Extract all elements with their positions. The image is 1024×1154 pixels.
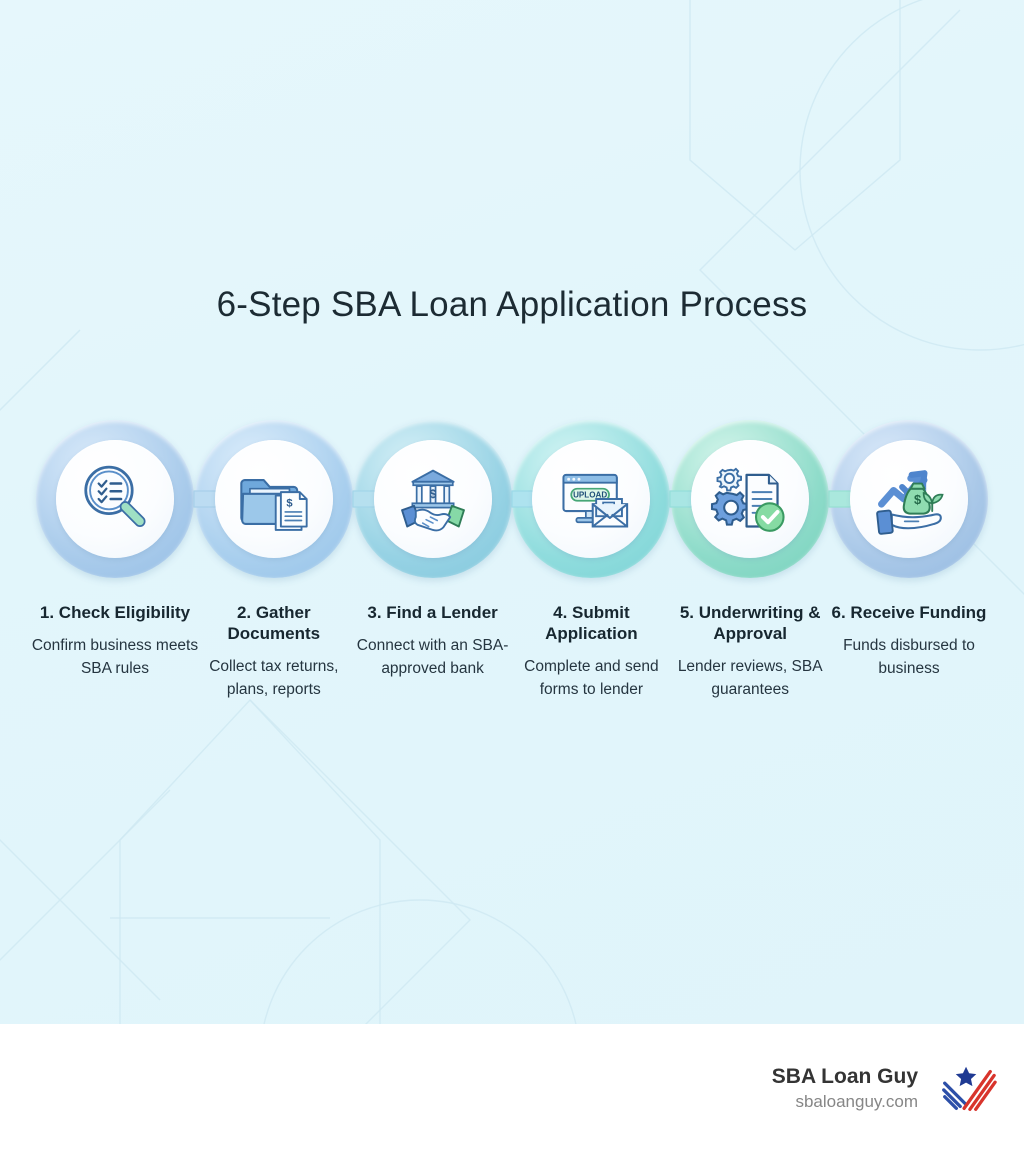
svg-text:$: $: [286, 498, 293, 510]
star-icon: [956, 1067, 977, 1086]
step-1-title: 1. Check Eligibility: [30, 602, 200, 623]
step-3-title: 3. Find a Lender: [348, 602, 518, 623]
sba-loan-guy-flag-logo: [936, 1058, 998, 1120]
magnifier-checklist-icon: [72, 456, 158, 542]
step-5-description: Lender reviews, SBA guarantees: [664, 656, 836, 701]
step-4-icon-disc: UPLOAD: [532, 440, 650, 558]
bg-circle-bottom: [260, 900, 580, 1024]
bg-cross-left: [0, 790, 170, 1000]
svg-text:$: $: [429, 487, 436, 501]
step-2-title: 2. Gather Documents: [189, 602, 359, 644]
bg-tick-left: [0, 330, 80, 420]
step-4-circle: UPLOAD: [512, 420, 670, 578]
step-4-title: 4. Submit Application: [506, 602, 676, 644]
step-5-circle: [671, 420, 829, 578]
bg-chevron-bottom: [250, 700, 470, 1024]
step-1-icon-disc: [56, 440, 174, 558]
step-1[interactable]: 1. Check Eligibility Confirm business me…: [36, 420, 194, 680]
step-2-circle: $: [195, 420, 353, 578]
brand-block[interactable]: SBA Loan Guy sbaloanguy.com: [772, 1058, 1024, 1120]
steps-row: 1. Check Eligibility Confirm business me…: [36, 420, 988, 701]
gears-document-check-icon: [707, 456, 793, 542]
infographic-canvas: 6-Step SBA Loan Application Process: [0, 0, 1024, 1154]
step-1-description: Confirm business meets SBA rules: [29, 635, 201, 680]
step-4-description: Complete and send forms to lender: [505, 656, 677, 701]
step-6-icon-disc: $: [850, 440, 968, 558]
step-2[interactable]: $ 2. Gather Documents Collect tax return…: [195, 420, 353, 701]
step-2-description: Collect tax returns, plans, reports: [188, 656, 360, 701]
step-6-title: 6. Receive Funding: [824, 602, 994, 623]
brand-text: SBA Loan Guy sbaloanguy.com: [772, 1065, 918, 1113]
bg-hexagon-top: [690, 0, 900, 250]
bg-pentagon-bottom-left: [120, 700, 380, 1024]
brand-name: SBA Loan Guy: [772, 1065, 918, 1089]
upload-button-label: UPLOAD: [573, 490, 607, 499]
step-3[interactable]: $ 3. Find a Lender Connect with an SBA-a…: [354, 420, 512, 680]
footer-bar: SBA Loan Guy sbaloanguy.com: [0, 1024, 1024, 1154]
step-2-icon-disc: $: [215, 440, 333, 558]
flag-star-swoosh-icon: [936, 1058, 998, 1120]
page-title: 6-Step SBA Loan Application Process: [0, 285, 1024, 325]
step-6[interactable]: $ 6. Receive Funding Funds disbursed to …: [830, 420, 988, 680]
folder-documents-icon: $: [231, 456, 317, 542]
hand-moneybag-growth-icon: $: [866, 456, 952, 542]
step-4[interactable]: UPLOAD 4. Submit Application Complete an…: [512, 420, 670, 701]
monitor-upload-envelope-icon: UPLOAD: [548, 456, 634, 542]
svg-text:$: $: [914, 492, 921, 507]
step-3-icon-disc: $: [374, 440, 492, 558]
bank-handshake-icon: $: [390, 456, 476, 542]
step-6-description: Funds disbursed to business: [823, 635, 995, 680]
step-6-circle: $: [830, 420, 988, 578]
step-3-description: Connect with an SBA-approved bank: [347, 635, 519, 680]
step-3-circle: $: [354, 420, 512, 578]
step-5-title: 5. Underwriting & Approval: [665, 602, 835, 644]
brand-url[interactable]: sbaloanguy.com: [772, 1091, 918, 1113]
step-5-icon-disc: [691, 440, 809, 558]
step-5[interactable]: 5. Underwriting & Approval Lender review…: [671, 420, 829, 701]
step-1-circle: [36, 420, 194, 578]
